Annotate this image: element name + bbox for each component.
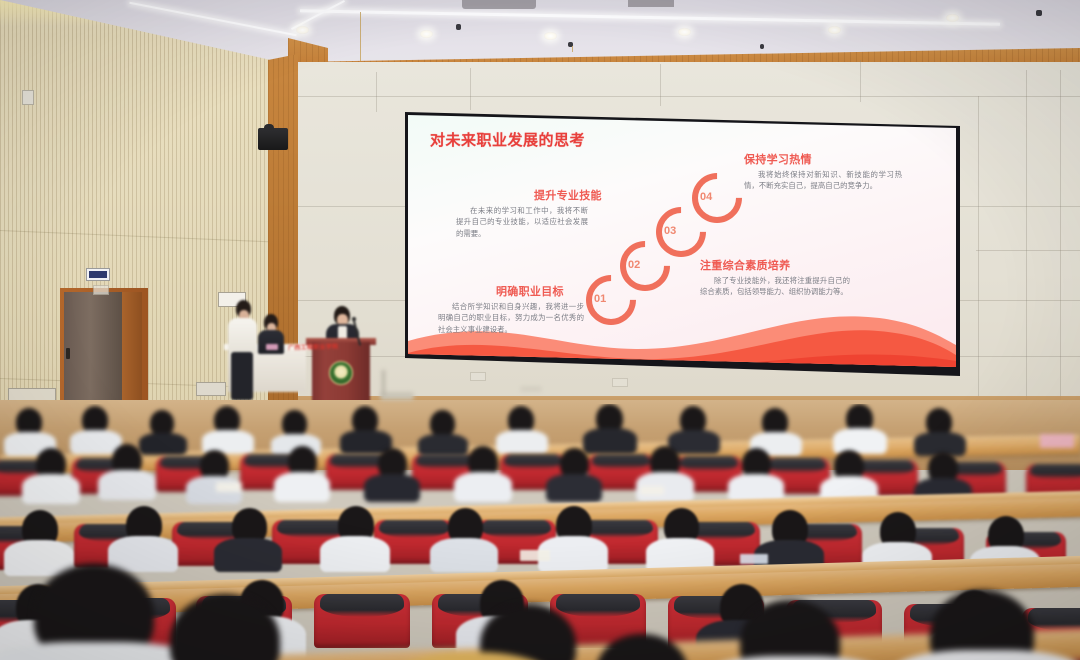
slide-body-04: 我将始终保持对新知识、新技能的学习热情，不断充实自己，提高自己的竞争力。 — [744, 169, 902, 192]
school-emblem-icon — [329, 361, 353, 385]
arc-number-03: 03 — [664, 225, 676, 237]
podium-school-name: 广西工程职业学院 — [288, 341, 339, 351]
wall-panel-seam — [978, 96, 979, 396]
lecture-hall-photo: 对未来职业发展的思考 01 02 03 04 提升专业技能 在未来的学习和工作中… — [0, 0, 1080, 660]
wall-plate — [93, 285, 109, 295]
audience-area — [0, 404, 1080, 660]
wall-plate — [612, 378, 628, 387]
floor-object — [520, 386, 542, 392]
ceiling-vent — [462, 0, 536, 9]
person-legs — [231, 352, 253, 400]
arc-number-01: 01 — [594, 293, 606, 305]
wall-speaker — [258, 128, 288, 150]
slide-title: 对未来职业发展的思考 — [430, 129, 585, 150]
ceiling-sensor — [456, 24, 461, 30]
slide-body-02: 在未来的学习和工作中，我将不断提升自己的专业技能，以适应社会发展的需要。 — [456, 205, 588, 239]
exit-sign — [86, 268, 110, 281]
person-torso — [258, 330, 284, 354]
wall-panel-seam — [376, 72, 377, 112]
wall-panel-seam — [860, 60, 861, 102]
wall-plate — [470, 372, 486, 381]
ceiling-sensor — [760, 44, 764, 49]
downlight — [828, 26, 841, 34]
downlight — [946, 14, 959, 22]
downlight — [420, 30, 433, 38]
door-jamb — [122, 292, 142, 414]
slide-heading-01: 明确职业目标 — [496, 283, 564, 299]
downlight — [678, 28, 691, 36]
slide-body-03: 除了专业技能外，我还将注重提升自己的综合素质，包括领导能力、组织协调能力等。 — [700, 275, 850, 298]
ceiling-vent-2 — [628, 0, 674, 7]
arc-number-02: 02 — [628, 259, 640, 271]
wall-switch[interactable] — [22, 90, 34, 105]
microphone-icon — [352, 317, 356, 321]
wall-vent — [196, 382, 226, 396]
hanging-cord — [572, 46, 573, 52]
wall-panel-seam — [296, 96, 1080, 97]
wall-panel-seam — [1060, 70, 1061, 400]
slide-heading-02: 提升专业技能 — [534, 187, 602, 203]
person-torso — [228, 318, 257, 354]
wall-panel-seam — [976, 250, 1080, 251]
slide-heading-04: 保持学习热情 — [744, 151, 812, 167]
wall-panel-seam — [660, 64, 661, 106]
arc-number-04: 04 — [700, 191, 712, 203]
cable-stand — [382, 370, 385, 396]
wall-panel-seam — [1026, 70, 1027, 400]
slide-heading-03: 注重综合素质培养 — [700, 257, 790, 273]
floor-object — [380, 392, 414, 400]
desk-item — [266, 344, 278, 350]
downlight — [544, 32, 557, 40]
door-leaf[interactable] — [64, 292, 122, 414]
ceiling-sensor — [1036, 10, 1042, 16]
wall-panel-seam — [470, 68, 471, 110]
presentation-slide: 对未来职业发展的思考 01 02 03 04 提升专业技能 在未来的学习和工作中… — [408, 115, 956, 371]
door-handle-icon[interactable] — [66, 348, 70, 359]
slide-body-01: 结合所学知识和自身兴趣，我将进一步明确自己的职业目标，努力成为一名优秀的社会主义… — [438, 301, 584, 335]
downlight — [296, 26, 309, 34]
led-screen[interactable]: 对未来职业发展的思考 01 02 03 04 提升专业技能 在未来的学习和工作中… — [408, 115, 956, 371]
